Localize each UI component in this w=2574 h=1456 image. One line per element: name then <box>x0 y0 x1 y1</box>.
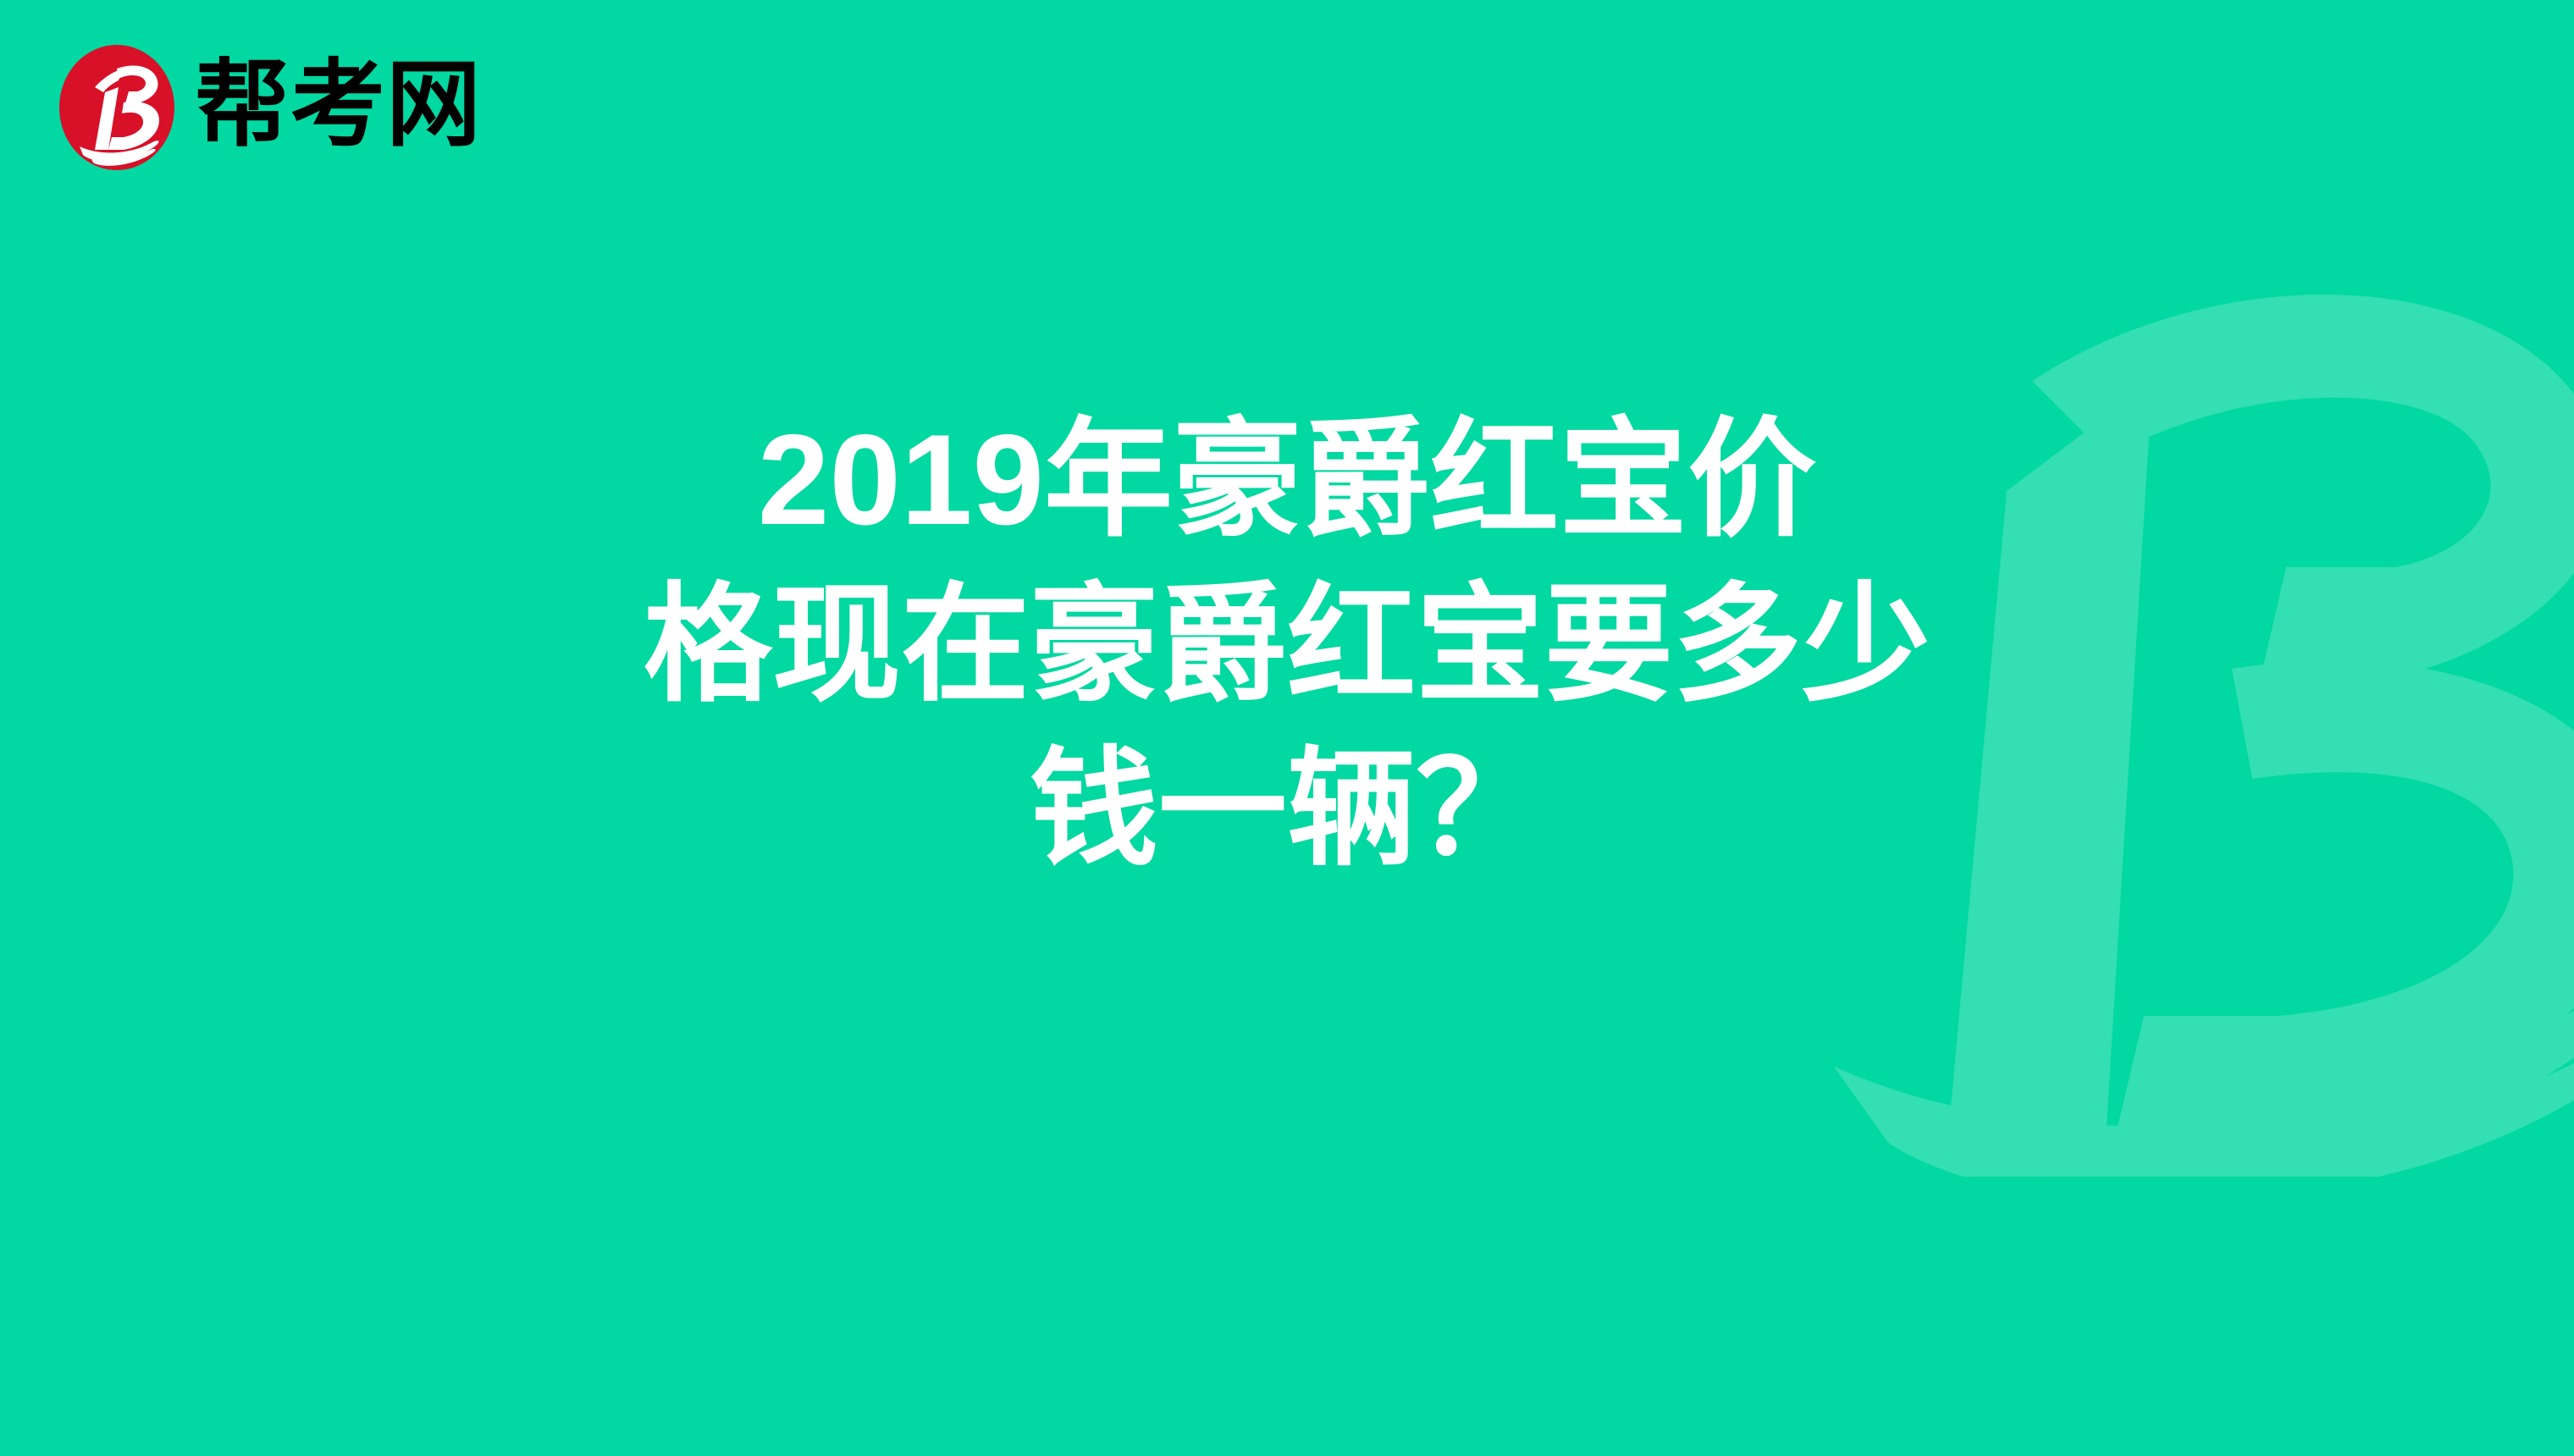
poster-canvas: 帮考网 2019年豪爵红宝价 格现在豪爵红宝要多少 钱一辆？ <box>0 0 2574 1456</box>
page-title-line-2: 格现在豪爵红宝要多少 <box>102 563 2472 728</box>
bangkao-b-logo-icon <box>58 43 176 172</box>
page-title-line-1: 2019年豪爵红宝价 <box>102 398 2472 563</box>
page-title: 2019年豪爵红宝价 格现在豪爵红宝要多少 钱一辆？ <box>0 398 2574 892</box>
brand-name: 帮考网 <box>195 58 482 157</box>
brand-logo[interactable]: 帮考网 <box>58 41 482 174</box>
page-title-line-3: 钱一辆？ <box>102 727 2472 892</box>
